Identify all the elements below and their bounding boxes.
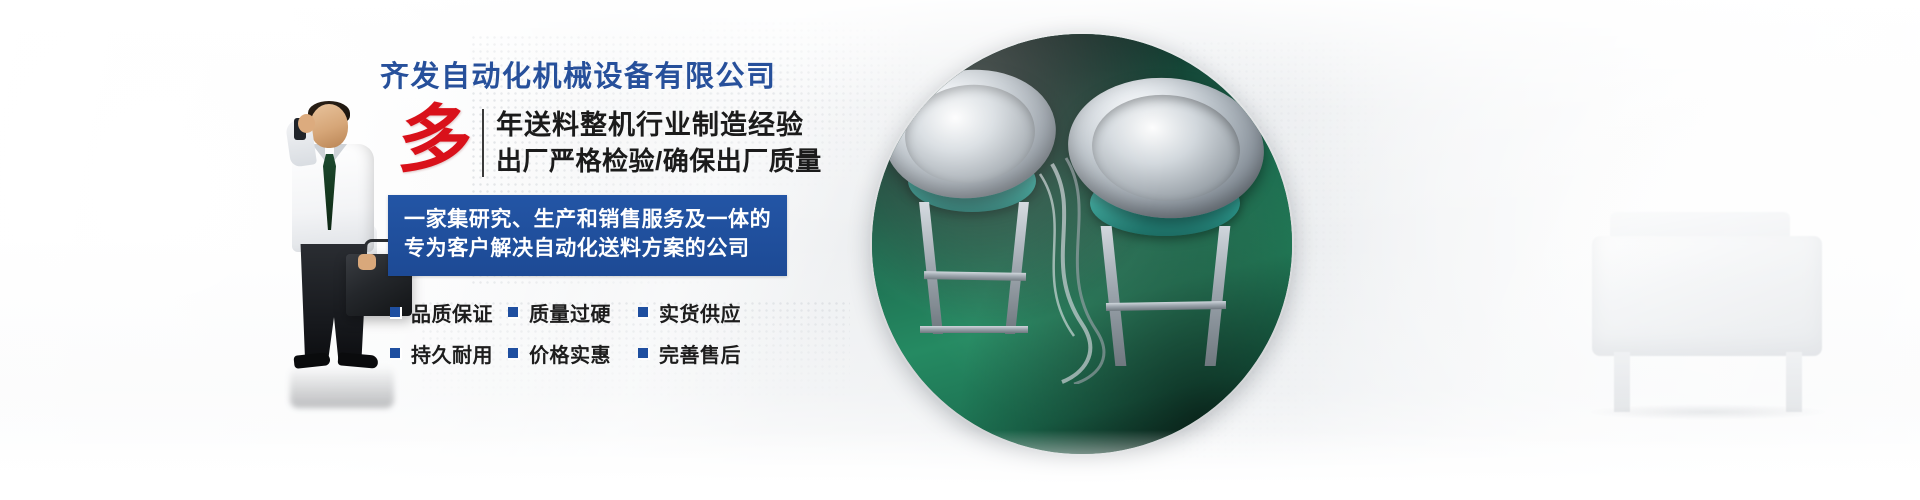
feature-item: 质量过硬 xyxy=(508,298,638,327)
product-photo-circle xyxy=(872,34,1292,454)
square-bullet-icon xyxy=(638,348,650,360)
feature-label: 完善售后 xyxy=(659,339,741,368)
feature-label: 质量过硬 xyxy=(529,298,611,327)
slogan-block: 多 年送料整机行业制造经验 出厂严格检验/确保出厂质量 xyxy=(380,109,800,178)
ghost-machine-leg-left xyxy=(1614,352,1630,412)
feature-item: 完善售后 xyxy=(638,339,800,368)
banner-copy: 齐发自动化机械设备有限公司 多 年送料整机行业制造经验 出厂严格检验/确保出厂质… xyxy=(380,60,800,368)
feature-item: 价格实惠 xyxy=(508,339,638,368)
square-bullet-icon xyxy=(638,307,650,319)
company-title: 齐发自动化机械设备有限公司 xyxy=(380,60,800,95)
stand-crossbar xyxy=(920,326,1028,333)
square-bullet-icon xyxy=(508,348,520,360)
feature-item: 持久耐用 xyxy=(390,339,508,368)
feature-label: 价格实惠 xyxy=(529,339,611,368)
head xyxy=(310,104,348,148)
floor-reflection xyxy=(290,366,394,408)
briefcase-hand xyxy=(358,254,376,270)
feature-label: 实货供应 xyxy=(659,298,741,327)
slogan-lines: 年送料整机行业制造经验 出厂严格检验/确保出厂质量 xyxy=(482,109,822,178)
ghost-machine-graphic xyxy=(1568,206,1868,421)
hand xyxy=(298,114,315,133)
description-line-1: 一家集研究、生产和销售服务及一体的 xyxy=(404,206,771,235)
description-line-2: 专为客户解决自动化送料方案的公司 xyxy=(404,235,771,264)
cable-bundle xyxy=(1022,154,1262,384)
ghost-machine-leg-right xyxy=(1786,352,1802,412)
ghost-machine-shadow xyxy=(1586,404,1830,420)
slogan-line-2: 出厂严格检验/确保出厂质量 xyxy=(496,146,822,178)
feature-list: 品质保证 质量过硬 实货供应 持久耐用 价格实惠 完善售后 xyxy=(390,298,800,368)
description-box: 一家集研究、生产和销售服务及一体的 专为客户解决自动化送料方案的公司 xyxy=(388,195,787,276)
feature-label: 品质保证 xyxy=(411,298,493,327)
promo-banner: 齐发自动化机械设备有限公司 多 年送料整机行业制造经验 出厂严格检验/确保出厂质… xyxy=(0,0,1920,500)
slogan-line-1: 年送料整机行业制造经验 xyxy=(496,109,822,142)
square-bullet-icon xyxy=(390,307,402,319)
square-bullet-icon xyxy=(508,307,520,319)
ghost-machine-body xyxy=(1592,236,1822,356)
feature-item: 品质保证 xyxy=(390,298,508,327)
feature-label: 持久耐用 xyxy=(411,339,493,368)
square-bullet-icon xyxy=(390,348,402,360)
feature-item: 实货供应 xyxy=(638,298,800,327)
slogan-big-character: 多 xyxy=(378,110,485,177)
